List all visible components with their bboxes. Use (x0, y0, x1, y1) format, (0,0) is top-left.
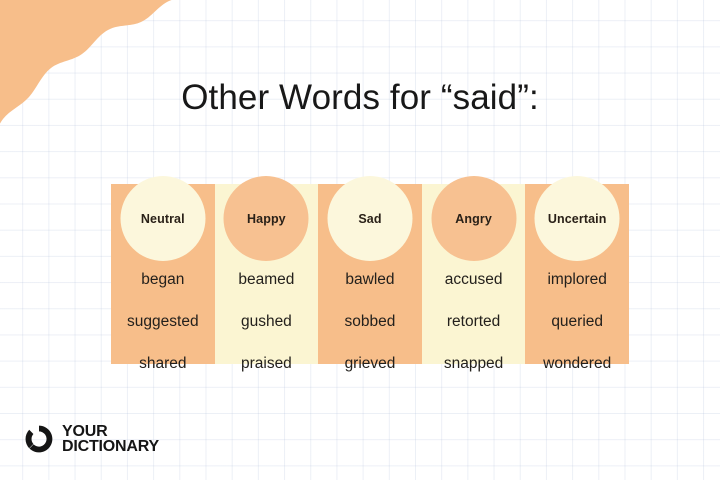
category-bubble-sad: Sad (327, 176, 412, 261)
word-item: accused (422, 259, 526, 301)
word-item: shared (111, 343, 215, 385)
word-list-neutral: began suggested shared (111, 259, 215, 385)
logo-line-1: YOUR (62, 424, 159, 439)
word-item: praised (215, 343, 319, 385)
word-item: beamed (215, 259, 319, 301)
decorative-orange-blob (0, 0, 306, 154)
category-bubble-angry: Angry (431, 176, 516, 261)
word-table: Neutral began suggested shared Happy bea… (111, 184, 629, 364)
category-label: Happy (247, 212, 286, 226)
word-list-happy: beamed gushed praised (215, 259, 319, 385)
word-item: retorted (422, 301, 526, 343)
word-item: began (111, 259, 215, 301)
category-label: Angry (455, 212, 492, 226)
infographic-canvas: Other Words for “said”: Neutral began su… (0, 0, 720, 480)
category-bubble-neutral: Neutral (120, 176, 205, 261)
word-item: gushed (215, 301, 319, 343)
logo-line-2: DICTIONARY (62, 439, 159, 454)
category-label: Sad (358, 212, 381, 226)
column-happy: Happy beamed gushed praised (215, 184, 319, 364)
word-item: implored (525, 259, 629, 301)
word-list-sad: bawled sobbed grieved (318, 259, 422, 385)
word-item: snapped (422, 343, 526, 385)
logo-wordmark: YOUR DICTIONARY (62, 424, 159, 454)
category-bubble-happy: Happy (224, 176, 309, 261)
category-label: Neutral (141, 212, 185, 226)
circle-ring-icon (24, 424, 54, 454)
word-item: grieved (318, 343, 422, 385)
page-title: Other Words for “said”: (0, 78, 720, 118)
word-item: sobbed (318, 301, 422, 343)
word-list-uncertain: implored queried wondered (525, 259, 629, 385)
word-list-angry: accused retorted snapped (422, 259, 526, 385)
word-item: wondered (525, 343, 629, 385)
word-item: bawled (318, 259, 422, 301)
column-sad: Sad bawled sobbed grieved (318, 184, 422, 364)
word-item: queried (525, 301, 629, 343)
column-angry: Angry accused retorted snapped (422, 184, 526, 364)
word-item: suggested (111, 301, 215, 343)
yourdictionary-logo: YOUR DICTIONARY (24, 424, 159, 454)
column-uncertain: Uncertain implored queried wondered (525, 184, 629, 364)
category-label: Uncertain (548, 212, 607, 226)
column-neutral: Neutral began suggested shared (111, 184, 215, 364)
category-bubble-uncertain: Uncertain (535, 176, 620, 261)
